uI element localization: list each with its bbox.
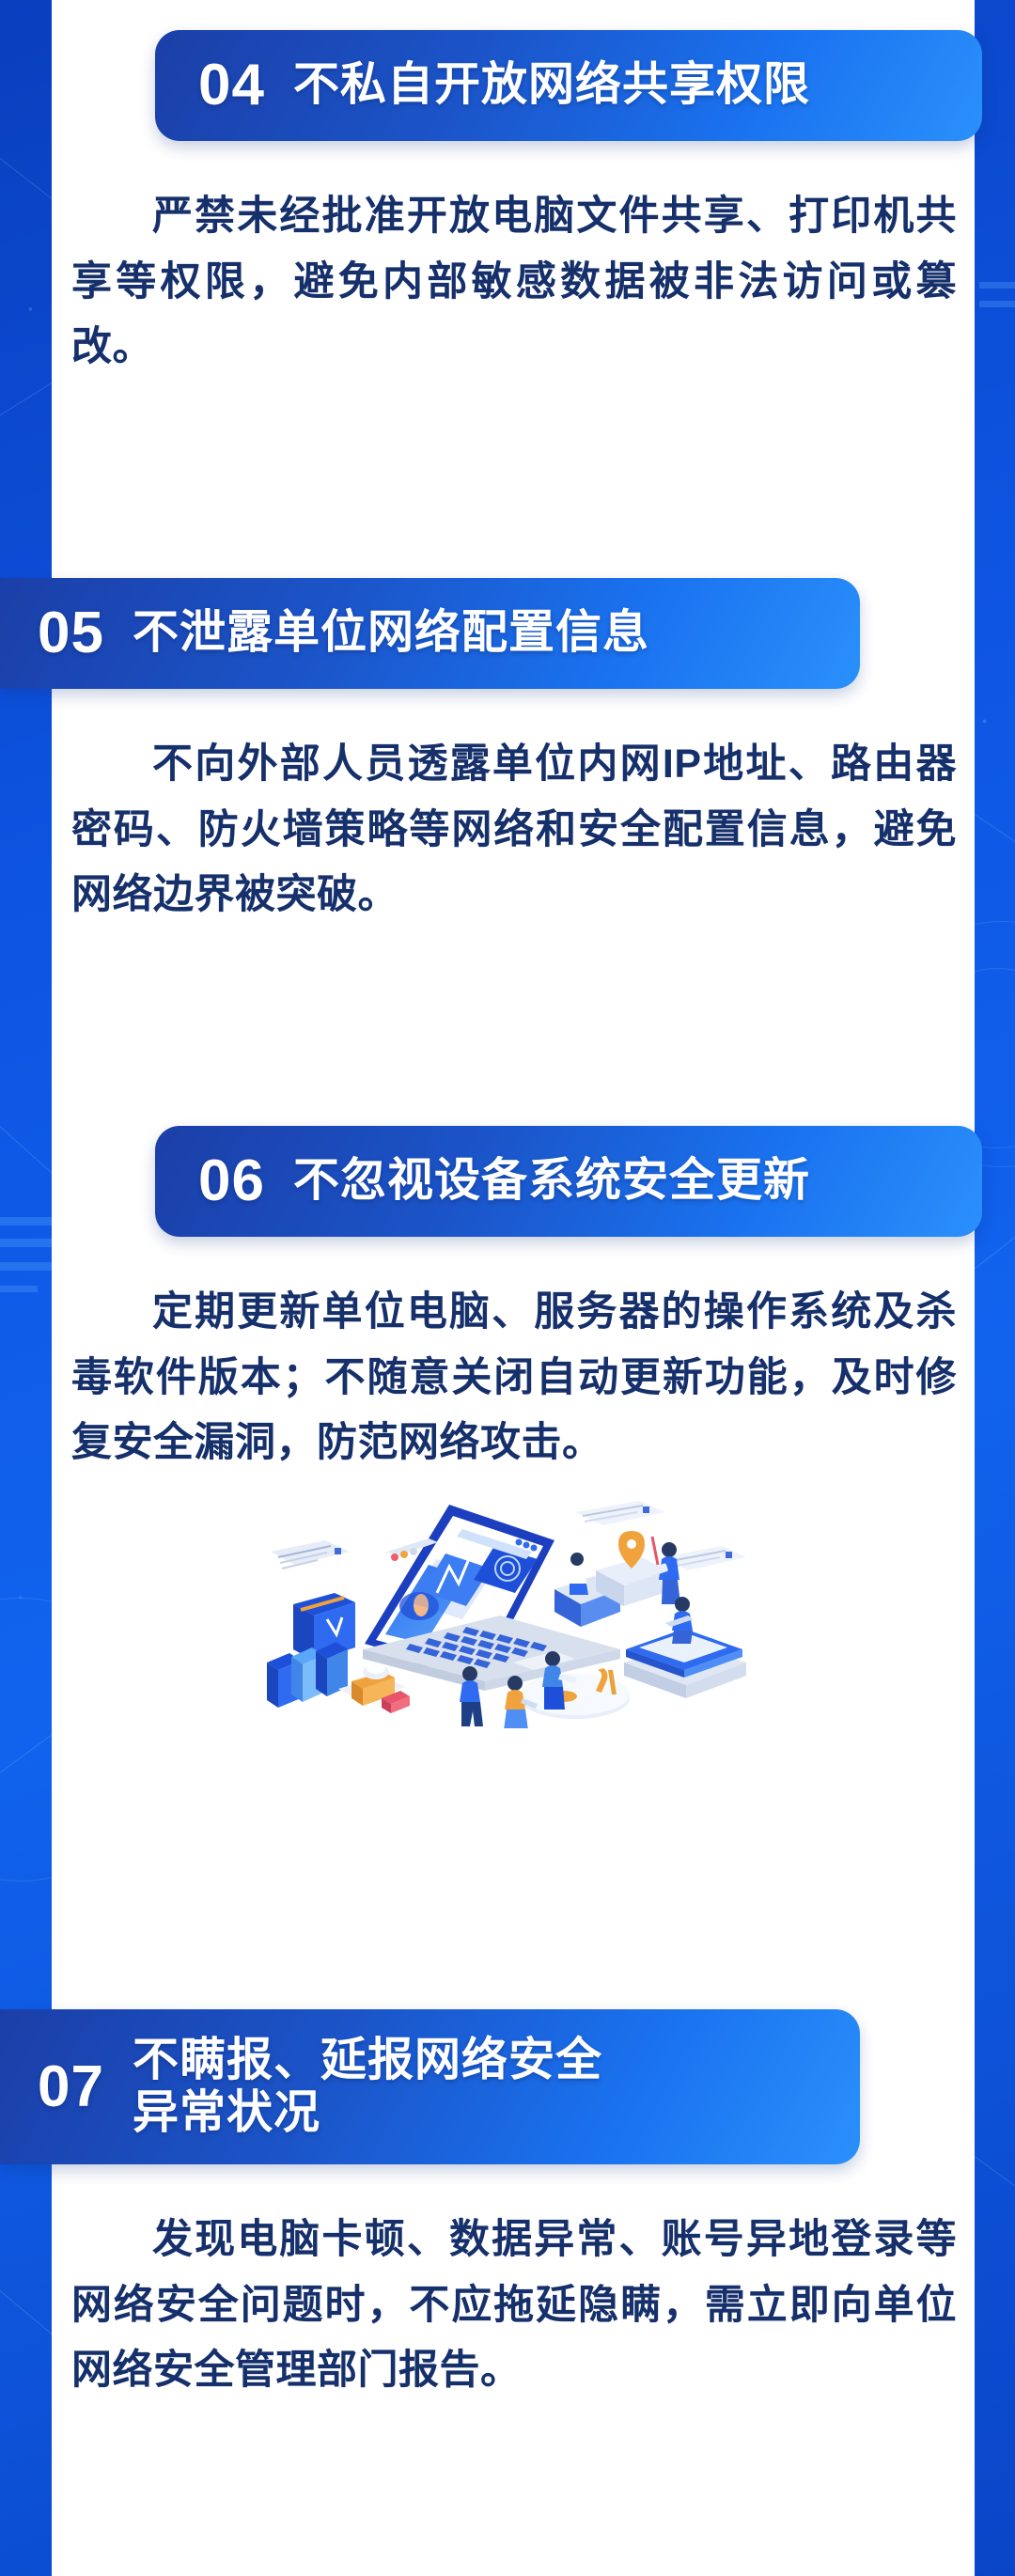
sections-container: 04 不私自开放网络共享权限 严禁未经批准开放电脑文件共享、打印机共享等权限，避… <box>0 0 1015 2576</box>
section-04-title: 不私自开放网络共享权限 <box>293 59 810 112</box>
section-04-header[interactable]: 04 不私自开放网络共享权限 <box>155 30 982 141</box>
section-07-header[interactable]: 07 不瞒报、延报网络安全 异常状况 <box>0 2009 860 2164</box>
section-06-title: 不忽视设备系统安全更新 <box>293 1155 810 1208</box>
section-06-header[interactable]: 06 不忽视设备系统安全更新 <box>155 1126 982 1237</box>
section-07-title: 不瞒报、延报网络安全 异常状况 <box>133 2035 602 2140</box>
section-06-number: 06 <box>198 1152 265 1210</box>
section-05-number: 05 <box>38 604 104 663</box>
section-07-body: 发现电脑卡顿、数据异常、账号异地登录等网络安全问题时，不应拖延隐瞒，需立即向单位… <box>71 2208 957 2404</box>
section-06-body: 定期更新单位电脑、服务器的操作系统及杀毒软件版本；不随意关闭自动更新功能，及时修… <box>71 1280 957 1476</box>
isometric-laptop-teamwork-illustration <box>244 1484 771 1728</box>
section-04-number: 04 <box>198 56 265 115</box>
section-04-body: 严禁未经批准开放电脑文件共享、打印机共享等权限，避免内部敏感数据被非法访问或篡改… <box>71 184 957 381</box>
section-05-body: 不向外部人员透露单位内网IP地址、路由器密码、防火墙策略等网络和安全配置信息，避… <box>71 732 957 929</box>
section-07-number: 07 <box>38 2058 104 2116</box>
section-06: 06 不忽视设备系统安全更新 定期更新单位电脑、服务器的操作系统及杀毒软件版本；… <box>0 1126 1015 1728</box>
section-04: 04 不私自开放网络共享权限 严禁未经批准开放电脑文件共享、打印机共享等权限，避… <box>0 30 1015 381</box>
section-05-header[interactable]: 05 不泄露单位网络配置信息 <box>0 578 860 689</box>
section-07: 07 不瞒报、延报网络安全 异常状况 发现电脑卡顿、数据异常、账号异地登录等网络… <box>0 2009 1015 2404</box>
section-05: 05 不泄露单位网络配置信息 不向外部人员透露单位内网IP地址、路由器密码、防火… <box>0 578 1015 929</box>
section-05-title: 不泄露单位网络配置信息 <box>133 607 649 660</box>
